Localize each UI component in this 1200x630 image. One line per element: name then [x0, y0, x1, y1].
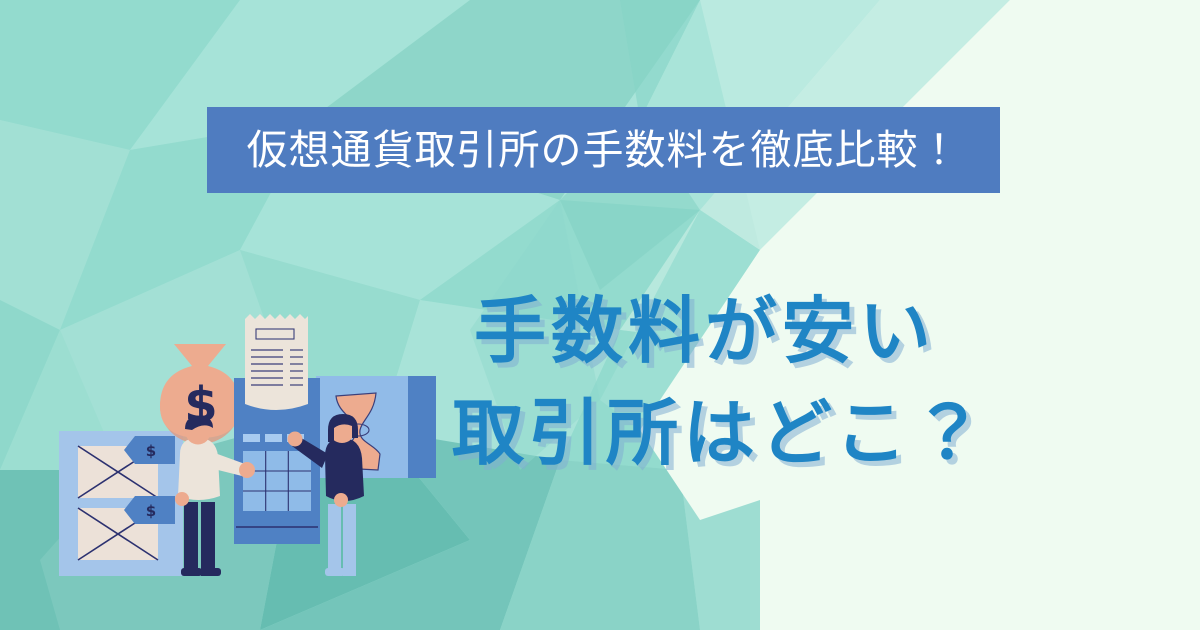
receipt-top-zigzag [245, 314, 308, 322]
price-tag-1-label: $ [146, 442, 156, 460]
receipt-group [245, 314, 308, 410]
central-panel-tab-2 [265, 434, 282, 442]
person-right-hand-lower [334, 493, 348, 507]
person-left-shoe-left [181, 568, 202, 576]
banner-root: $ $ $ [0, 0, 1200, 630]
finance-illustration: $ $ $ [40, 296, 460, 596]
person-left-shoe-right [200, 568, 221, 576]
person-right-leg-left [328, 504, 341, 576]
header-band: 仮想通貨取引所の手数料を徹底比較！ [207, 107, 1000, 193]
person-left-hand [239, 462, 255, 478]
headline-line-2: 取引所はどこ？ [452, 382, 1012, 484]
envelope-board-group: $ $ [59, 431, 183, 576]
header-band-title: 仮想通貨取引所の手数料を徹底比較！ [247, 130, 961, 171]
person-right-hand [288, 432, 303, 447]
person-left-leg-left [184, 502, 198, 576]
person-left-torso [178, 438, 220, 500]
person-right-torso [325, 438, 364, 501]
central-panel-tab-1 [243, 434, 260, 442]
headline-block: 手数料が安い 取引所はどこ？ [452, 280, 1012, 484]
central-panel-grid [243, 451, 311, 511]
person-right-leg-right [343, 504, 356, 576]
person-left-hand-lower [175, 492, 189, 506]
person-right-shoe-left [325, 568, 345, 576]
person-left-leg-right [201, 502, 215, 576]
headline-line-1: 手数料が安い [474, 280, 1012, 382]
price-tag-2-label: $ [146, 502, 156, 520]
central-panel-grid-bg [243, 451, 311, 511]
